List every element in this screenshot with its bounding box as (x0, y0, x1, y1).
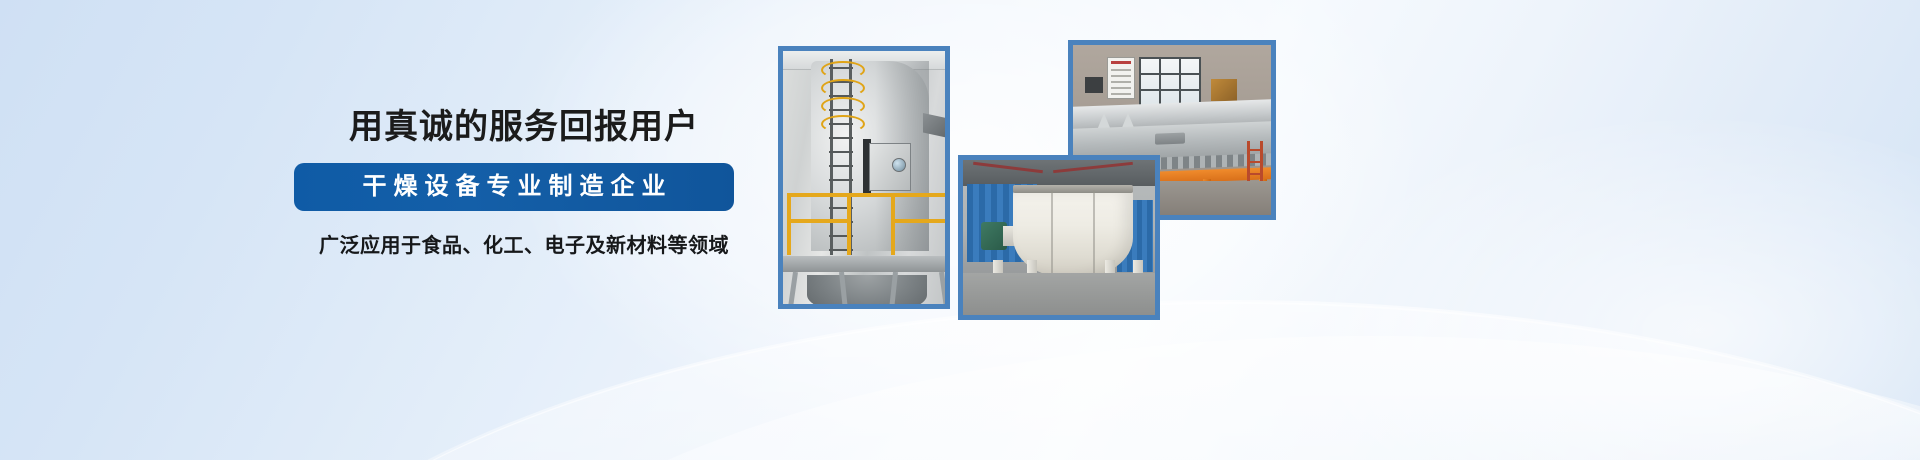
wall-sign (1107, 57, 1135, 99)
banner-text-block: 用真诚的服务回报用户 干燥设备专业制造企业 广泛应用于食品、化工、电子及新材料等… (294, 108, 754, 258)
banner-tagline-pill: 干燥设备专业制造企业 (294, 163, 734, 211)
photo-ribbon-mixer[interactable] (958, 155, 1160, 320)
photo-spray-dryer-tower[interactable] (778, 46, 950, 309)
background-swoosh-edge (190, 302, 1920, 460)
photo-ribbon-mixer-content (963, 160, 1155, 315)
promo-banner: 用真诚的服务回报用户 干燥设备专业制造企业 广泛应用于食品、化工、电子及新材料等… (0, 0, 1920, 460)
background-swoosh (180, 300, 1920, 460)
background-glow-secondary (1320, 120, 1920, 460)
window-icon (1139, 57, 1201, 109)
background-swoosh-secondary (420, 336, 1920, 460)
banner-subline: 广泛应用于食品、化工、电子及新材料等领域 (294, 229, 754, 258)
banner-headline: 用真诚的服务回报用户 (294, 108, 754, 147)
photo-spray-dryer-content (783, 51, 945, 304)
